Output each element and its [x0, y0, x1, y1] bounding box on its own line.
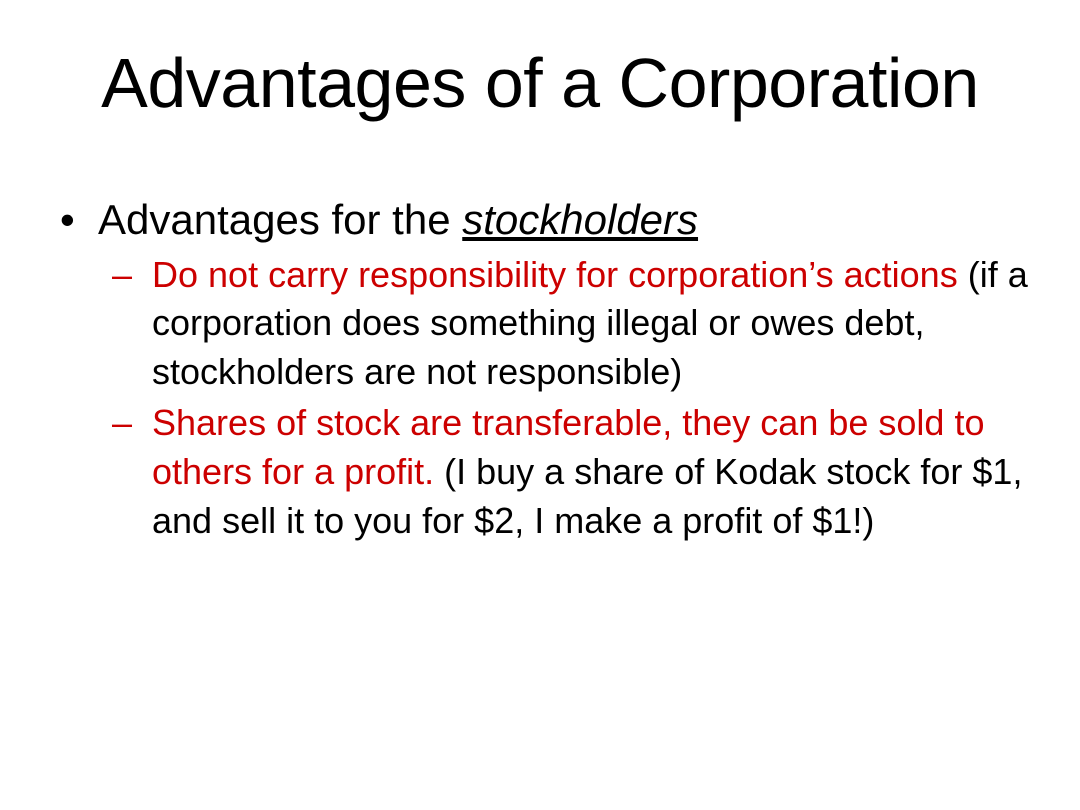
round-bullet-icon: •: [60, 196, 75, 245]
slide-title: Advantages of a Corporation: [0, 48, 1080, 119]
bullet-level2-item: –Do not carry responsibility for corpora…: [52, 251, 1037, 397]
en-dash-bullet-icon: –: [112, 399, 132, 448]
bullet-level2-segment-red: Do not carry responsibility for corporat…: [152, 254, 958, 295]
presentation-slide: Advantages of a Corporation • Advantages…: [0, 0, 1080, 810]
bullet-level2-list: –Do not carry responsibility for corpora…: [52, 251, 1037, 546]
bullet-level1-emphasis: stockholders: [462, 196, 698, 243]
en-dash-bullet-icon: –: [112, 251, 132, 300]
bullet-level1-lead: Advantages for the: [98, 196, 462, 243]
bullet-level1-text: Advantages for the stockholders: [98, 196, 698, 243]
bullet-level1: • Advantages for the stockholders: [52, 196, 1037, 245]
slide-body: • Advantages for the stockholders –Do no…: [52, 196, 1037, 547]
bullet-level2-item: –Shares of stock are transferable, they …: [52, 399, 1037, 545]
